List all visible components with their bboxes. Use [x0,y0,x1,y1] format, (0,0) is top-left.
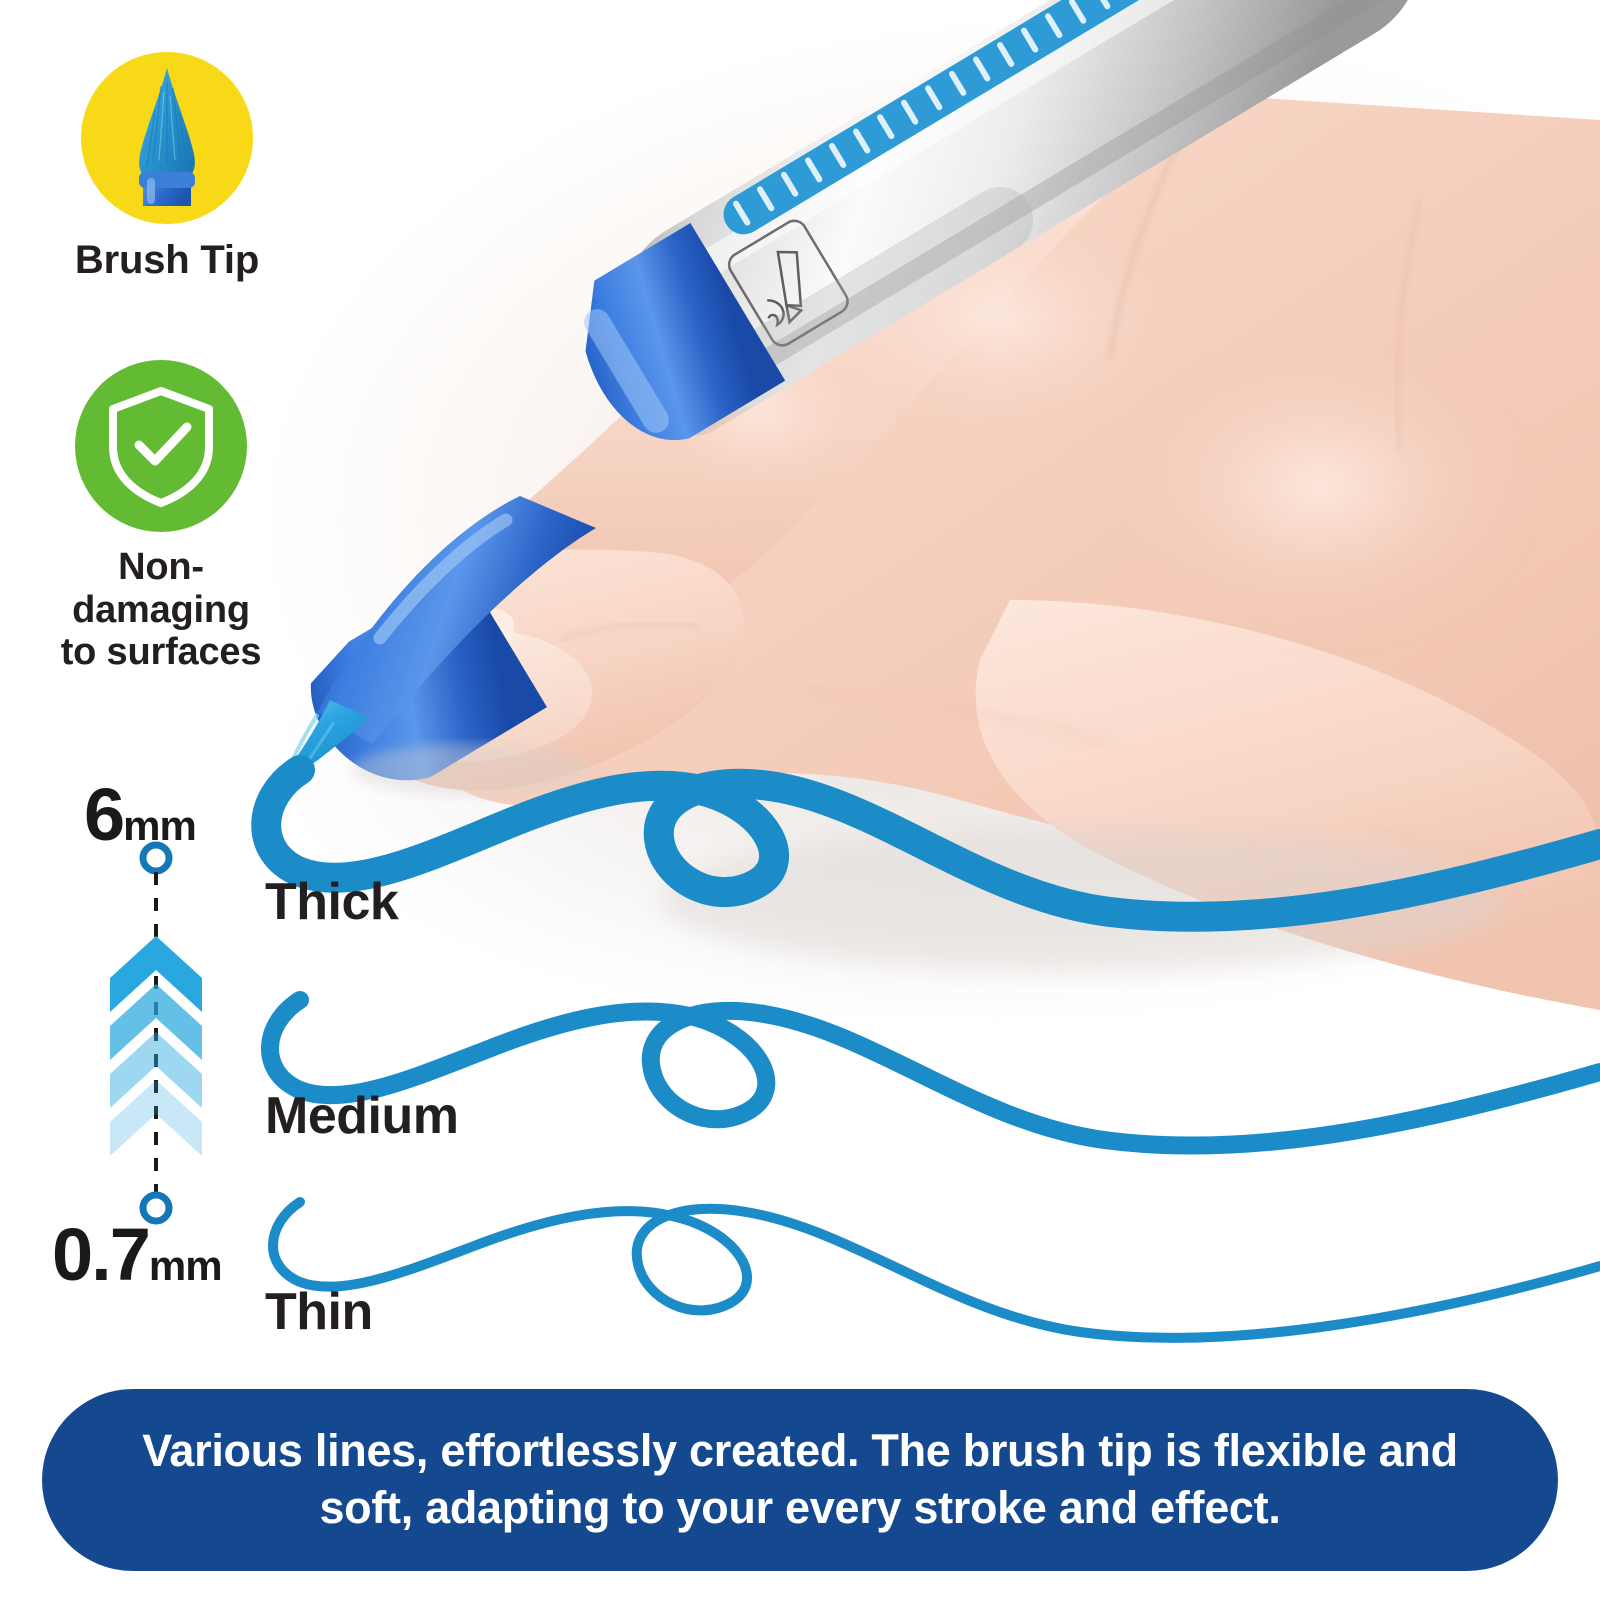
badge-non-damaging-circle [75,360,247,532]
caption-text: Various lines, effortlessly created. The… [90,1423,1510,1536]
infographic-page: Brush Tip Non-damaging to surfaces 6mm [0,0,1600,1600]
scale-chevrons [110,936,202,1156]
badge-brush-tip-circle [81,52,253,224]
scale-bottom-value: 0.7 [52,1213,149,1296]
badge-non-damaging-label: Non-damaging to surfaces [36,546,286,674]
stroke-medium [270,1000,1600,1146]
stroke-thin [273,1202,1600,1338]
stroke-label-medium: Medium [265,1086,458,1146]
shield-check-icon [101,383,221,509]
badge-non-damaging-label-line2: to surfaces [61,631,262,673]
caption-banner: Various lines, effortlessly created. The… [42,1389,1558,1571]
badge-brush-tip-label: Brush Tip [42,238,292,283]
stroke-label-thick: Thick [265,872,398,932]
stroke-thick [266,770,1600,917]
brush-tip-icon [81,52,253,224]
scale-bottom-unit: mm [149,1242,222,1289]
stroke-label-thin: Thin [265,1282,373,1342]
scale-bottom-measurement: 0.7mm [52,1212,222,1297]
badge-non-damaging-label-line1: Non-damaging [72,546,250,631]
badge-non-damaging: Non-damaging to surfaces [36,360,286,674]
scale-top-marker [143,845,169,871]
thickness-scale-indicator [96,840,216,1230]
badge-brush-tip: Brush Tip [42,52,292,283]
